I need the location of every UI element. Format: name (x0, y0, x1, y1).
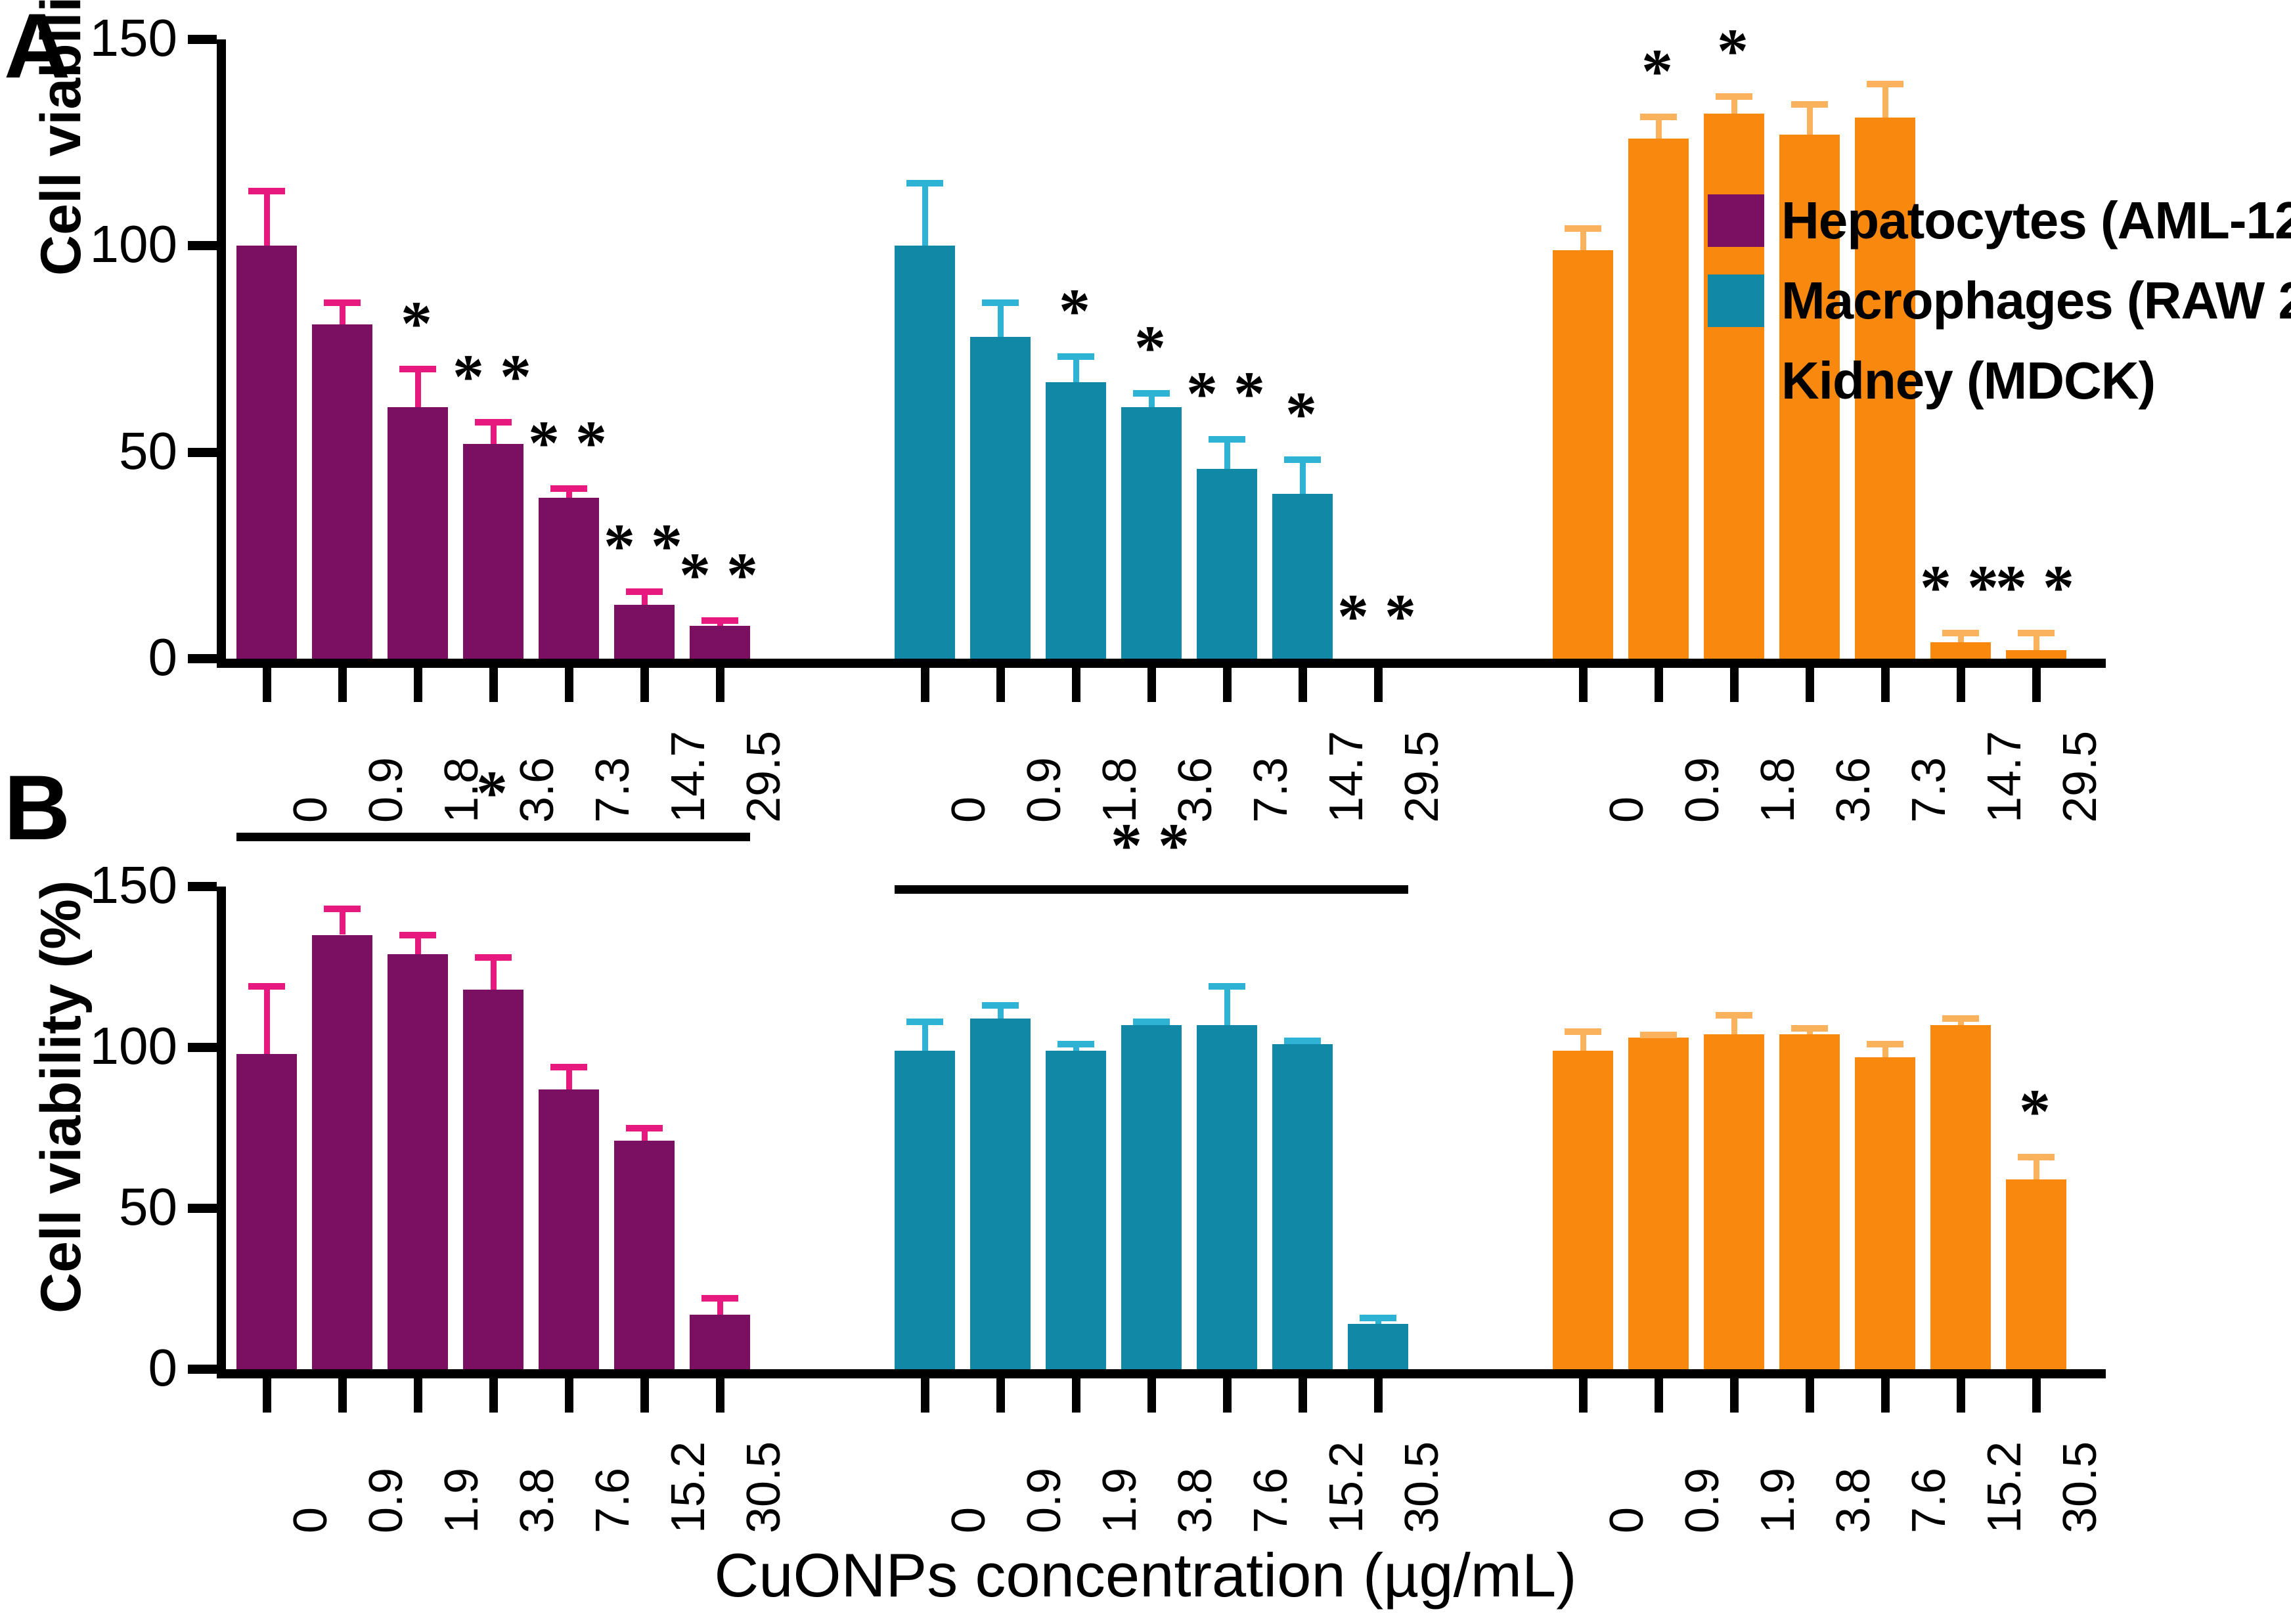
significance-marker: * * (1995, 556, 2074, 619)
legend-swatch-kidney (1708, 355, 1764, 407)
x-axis-tick (1806, 668, 1814, 702)
y-axis-tick (188, 1043, 217, 1052)
x-axis-tick-label: 15.2 (661, 1441, 715, 1533)
significance-marker: * (2019, 1080, 2051, 1143)
error-bar-cap (1284, 1038, 1321, 1044)
x-axis-tick-label: 3.6 (510, 757, 564, 823)
error-bar-cap (1791, 1025, 1828, 1032)
x-axis-tick (414, 668, 422, 702)
x-axis-tick (1579, 668, 1588, 702)
y-axis-tick (188, 882, 217, 891)
error-bar-cap (1791, 101, 1828, 108)
error-bar-cap (1360, 1315, 1396, 1321)
legend-item-hepatocytes: Hepatocytes (AML-12) (1708, 190, 2291, 251)
x-axis-tick (2032, 668, 2041, 702)
x-axis-tick-label: 1.8 (1751, 757, 1805, 823)
x-axis-tick (996, 668, 1005, 702)
y-axis-tick-label: 50 (0, 421, 177, 481)
bar (1930, 642, 1991, 659)
y-axis-tick (188, 35, 217, 44)
x-axis-tick (921, 1378, 929, 1413)
x-axis-tick (1374, 1378, 1383, 1413)
x-axis-tick (1223, 1378, 1232, 1413)
x-axis-tick (263, 668, 271, 702)
error-bar-cap (626, 588, 663, 595)
y-axis-tick-label: 0 (0, 1338, 177, 1398)
x-axis-tick-label: 14.7 (1978, 731, 2032, 823)
error-bar-line (922, 180, 928, 246)
error-bar-cap (1716, 93, 1752, 100)
x-axis-tick (1223, 668, 1232, 702)
y-axis-tick (188, 1204, 217, 1213)
significance-marker: * * (1111, 814, 1190, 877)
bar (1704, 1034, 1764, 1369)
x-axis-tick (1299, 1378, 1307, 1413)
significance-marker: * * (604, 515, 682, 578)
x-axis-tick-label: 0 (284, 797, 338, 823)
bar (1197, 1025, 1257, 1369)
error-bar-line (264, 983, 270, 1054)
x-axis-tick-label: 3.8 (510, 1468, 564, 1533)
significance-marker: * * (528, 412, 607, 475)
x-axis-tick-label: 0.9 (359, 757, 413, 823)
legend-item-macrophages: Macrophages (RAW 264.7) (1708, 271, 2291, 331)
x-axis-tick (1655, 1378, 1663, 1413)
bar (388, 954, 448, 1369)
error-bar-cap (982, 1002, 1019, 1009)
error-bar-cap (399, 366, 436, 372)
y-axis-tick-label: 0 (0, 627, 177, 688)
significance-marker: * (1717, 20, 1748, 83)
error-bar-cap (701, 1295, 738, 1302)
x-axis-tick-label: 3.8 (1827, 1468, 1880, 1533)
x-axis-tick-label: 7.6 (1244, 1468, 1298, 1533)
y-axis-line (217, 39, 226, 668)
y-axis-tick-label: 150 (0, 855, 177, 915)
significance-marker: * * (679, 544, 758, 607)
x-axis-tick-label: 0.9 (359, 1468, 413, 1533)
significance-marker: * (1641, 40, 1673, 103)
x-axis-tick (1730, 668, 1739, 702)
bar (539, 1089, 599, 1369)
error-bar-cap (1057, 353, 1094, 360)
x-axis-tick (1655, 668, 1663, 702)
bar (1121, 1025, 1182, 1369)
x-axis-tick-label: 1.9 (1093, 1468, 1147, 1533)
bar (895, 246, 955, 659)
x-axis-tick-label: 29.5 (2053, 731, 2107, 823)
error-bar-cap (550, 485, 587, 492)
error-bar-cap (2018, 630, 2055, 636)
x-axis-tick (489, 668, 498, 702)
error-bar-cap (1565, 1028, 1601, 1035)
y-axis-tick (188, 654, 217, 663)
x-axis-tick-label: 0 (942, 1507, 996, 1533)
error-bar-cap (1565, 225, 1601, 232)
error-bar-cap (1640, 114, 1677, 120)
bar (1272, 1044, 1333, 1369)
error-bar-cap (248, 188, 285, 194)
error-bar-cap (550, 1064, 587, 1070)
error-bar-cap (475, 954, 512, 961)
bar (236, 1054, 297, 1369)
x-axis-tick-label: 7.3 (1244, 757, 1298, 823)
error-bar-cap (701, 617, 738, 624)
y-axis-tick-label: 100 (0, 1016, 177, 1076)
bar (1272, 494, 1333, 659)
legend-swatch-hepatocytes (1708, 194, 1764, 247)
error-bar-cap (906, 1019, 943, 1025)
bar (312, 324, 372, 659)
x-axis-tick (1730, 1378, 1739, 1413)
bar (2006, 1179, 2066, 1369)
x-axis-tick-label: 0 (1600, 1507, 1654, 1533)
x-axis-tick (338, 1378, 347, 1413)
x-axis-tick (1072, 1378, 1080, 1413)
x-axis-tick (414, 1378, 422, 1413)
x-axis-tick-label: 1.9 (1751, 1468, 1805, 1533)
legend-item-kidney: Kidney (MDCK) (1708, 351, 2291, 411)
error-bar-cap (982, 299, 1019, 306)
x-axis-tick-label: 0.9 (1676, 1468, 1729, 1533)
x-axis-tick-label: 7.3 (1902, 757, 1956, 823)
x-axis-tick (1957, 668, 1965, 702)
x-axis-line (217, 659, 2106, 668)
error-bar-cap (1057, 1041, 1094, 1047)
bar (1348, 1324, 1408, 1369)
error-bar-cap (1867, 1041, 1903, 1047)
significance-marker: * (476, 762, 508, 825)
x-axis-tick-label: 7.6 (586, 1468, 640, 1533)
error-bar-cap (626, 1125, 663, 1131)
bar (463, 990, 523, 1369)
x-axis-tick (1806, 1378, 1814, 1413)
x-axis-tick-label: 1.9 (435, 1468, 489, 1533)
bar (690, 626, 750, 659)
x-axis-tick (640, 668, 649, 702)
x-axis-tick-label: 0.9 (1017, 757, 1071, 823)
x-axis-tick (263, 1378, 271, 1413)
bar (1628, 139, 1689, 659)
x-axis-tick (640, 1378, 649, 1413)
bar (388, 407, 448, 659)
panel-b-label: B (4, 762, 69, 854)
x-axis-tick (1881, 668, 1890, 702)
error-bar-cap (248, 983, 285, 990)
significance-bracket (895, 885, 1408, 894)
x-axis-tick (1957, 1378, 1965, 1413)
bar (2006, 650, 2066, 659)
y-axis-tick (188, 448, 217, 457)
bar (970, 1019, 1031, 1369)
x-axis-tick (2032, 1378, 2041, 1413)
y-axis-line (217, 887, 226, 1378)
bar (1197, 469, 1257, 659)
bar (1121, 407, 1182, 659)
y-axis-tick-label: 100 (0, 214, 177, 274)
x-axis-tick (996, 1378, 1005, 1413)
x-axis-line (217, 1369, 2106, 1378)
legend: Hepatocytes (AML-12) Macrophages (RAW 26… (1708, 190, 2291, 431)
legend-label-hepatocytes: Hepatocytes (AML-12) (1781, 190, 2291, 251)
x-axis-tick (338, 668, 347, 702)
x-axis-tick (921, 668, 929, 702)
bar (614, 1141, 675, 1369)
significance-marker: * * (1920, 556, 1999, 619)
error-bar-cap (1716, 1012, 1752, 1019)
bar (1046, 1051, 1106, 1369)
error-bar-cap (1640, 1032, 1677, 1038)
error-bar-cap (1942, 1015, 1979, 1022)
y-axis-tick (188, 1365, 217, 1374)
legend-label-macrophages: Macrophages (RAW 264.7) (1781, 271, 2291, 331)
x-axis-tick (1147, 668, 1156, 702)
x-axis-tick-label: 29.5 (737, 731, 791, 823)
x-axis-tick-label: 29.5 (1395, 731, 1449, 823)
x-axis-tick-label: 0 (1600, 797, 1654, 823)
x-axis-tick-label: 7.6 (1902, 1468, 1956, 1533)
error-bar-cap (2018, 1154, 2055, 1160)
bar (1553, 250, 1613, 659)
significance-marker: * * (1337, 585, 1416, 648)
x-axis-tick-label: 15.2 (1978, 1441, 2032, 1533)
x-axis-tick-label: 0 (284, 1507, 338, 1533)
x-axis-tick-label: 0.9 (1676, 757, 1729, 823)
bar (1628, 1038, 1689, 1369)
x-axis-tick (565, 1378, 573, 1413)
bar (1553, 1051, 1613, 1369)
error-bar-cap (324, 906, 361, 912)
bar (236, 246, 297, 659)
x-axis-tick (1072, 668, 1080, 702)
x-axis-tick (716, 668, 724, 702)
bar (614, 605, 675, 659)
x-axis-tick-label: 7.3 (586, 757, 640, 823)
significance-marker: * * (1186, 362, 1265, 426)
significance-marker: * (401, 292, 432, 355)
error-bar-cap (1284, 456, 1321, 463)
x-axis-tick (716, 1378, 724, 1413)
x-axis-tick (1299, 668, 1307, 702)
bar (463, 444, 523, 659)
x-axis-tick-label: 0 (942, 797, 996, 823)
x-axis-tick (1579, 1378, 1588, 1413)
bar (312, 935, 372, 1370)
x-axis-tick-label: 3.6 (1827, 757, 1880, 823)
significance-marker: * (1134, 317, 1166, 380)
significance-marker: * (1285, 383, 1317, 446)
legend-swatch-macrophages (1708, 274, 1764, 327)
significance-marker: * (1059, 280, 1090, 343)
y-axis-tick-label: 150 (0, 8, 177, 68)
y-axis-tick (188, 241, 217, 250)
x-axis-tick (1881, 1378, 1890, 1413)
figure-root: A Cell viability (%) 05010015000.9*1.8* … (0, 0, 2291, 1624)
error-bar-cap (1209, 436, 1245, 443)
significance-marker: * * (453, 345, 531, 408)
error-bar-cap (1133, 390, 1170, 397)
error-bar-line (264, 188, 270, 246)
x-axis-tick (1374, 668, 1383, 702)
x-axis-tick-label: 3.8 (1168, 1468, 1222, 1533)
x-axis-tick (1147, 1378, 1156, 1413)
x-axis-tick (489, 1378, 498, 1413)
x-axis-tick-label: 30.5 (1395, 1441, 1449, 1533)
error-bar-cap (324, 299, 361, 306)
x-axis-title: CuONPs concentration (µg/mL) (0, 1540, 2291, 1611)
error-bar-cap (1867, 81, 1903, 87)
x-axis-tick-label: 30.5 (2053, 1441, 2107, 1533)
error-bar-cap (1133, 1019, 1170, 1025)
panel-b-y-axis-title: Cell viability (%) (29, 881, 94, 1314)
x-axis-tick-label: 15.2 (1320, 1441, 1373, 1533)
bar (1046, 382, 1106, 659)
error-bar-cap (475, 419, 512, 426)
x-axis-tick-label: 14.7 (1320, 731, 1373, 823)
x-axis-tick-label: 14.7 (661, 731, 715, 823)
bar (690, 1315, 750, 1369)
x-axis-tick (565, 668, 573, 702)
bar (539, 498, 599, 659)
bar (970, 337, 1031, 659)
error-bar-cap (399, 932, 436, 938)
bar (895, 1051, 955, 1369)
error-bar-cap (1942, 630, 1979, 636)
legend-label-kidney: Kidney (MDCK) (1781, 351, 2155, 411)
x-axis-tick-label: 0.9 (1017, 1468, 1071, 1533)
error-bar-cap (1209, 983, 1245, 990)
x-axis-tick-label: 30.5 (737, 1441, 791, 1533)
bar (1930, 1025, 1991, 1369)
bar (1779, 1034, 1840, 1369)
y-axis-tick-label: 50 (0, 1177, 177, 1237)
error-bar-cap (906, 180, 943, 187)
significance-bracket (236, 833, 750, 841)
bar (1855, 1057, 1915, 1369)
